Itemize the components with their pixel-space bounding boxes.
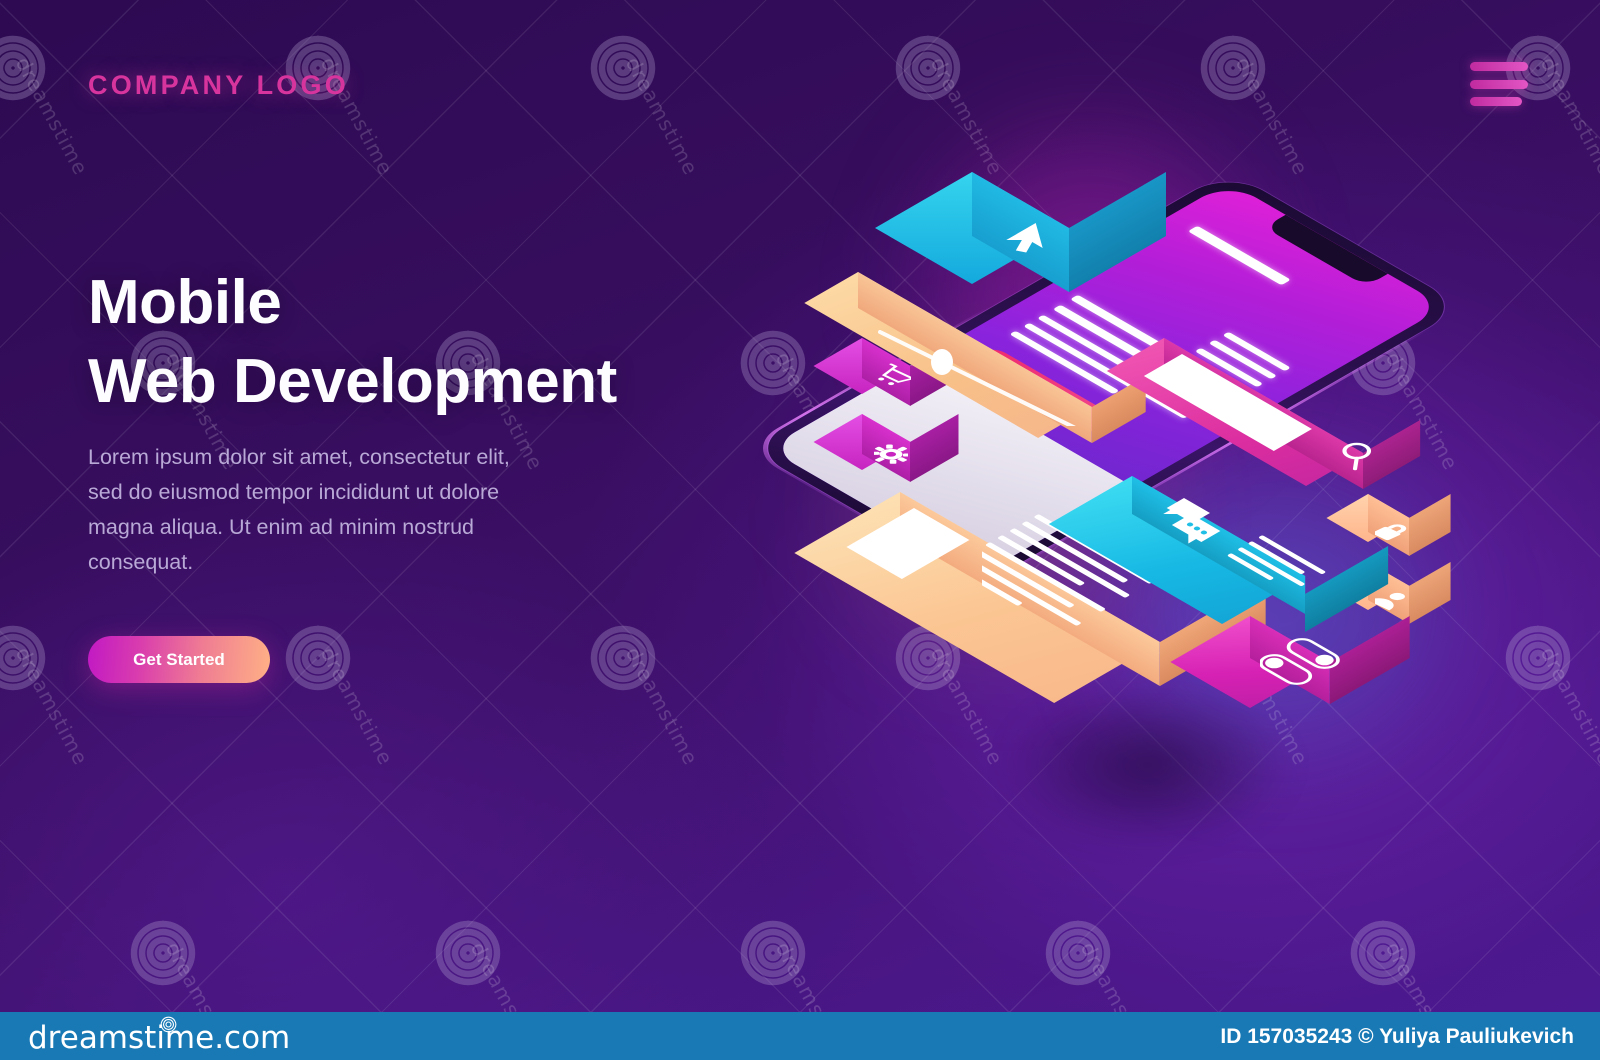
page-title: Mobile Web Development [88, 264, 617, 421]
search-icon [1332, 434, 1378, 486]
lock-icon [1374, 514, 1408, 554]
gear-icon [873, 436, 909, 472]
headline-line-1: Mobile [88, 268, 281, 337]
chat-icon [1146, 494, 1226, 574]
cursor-icon [1000, 212, 1068, 280]
get-started-button[interactable]: Get Started [88, 636, 270, 683]
headline-line-2: Web Development [88, 343, 617, 422]
company-logo[interactable]: COMPANY LOGO [88, 70, 349, 101]
slider-icon [872, 306, 1122, 426]
isometric-illustration [800, 80, 1520, 880]
spiral-icon [160, 1016, 177, 1036]
hamburger-bar-1 [1470, 62, 1528, 71]
stock-footer-bar: dreamstime.com ID 157035243 © Yuliya Pau… [0, 1012, 1600, 1060]
image-credit: ID 157035243 © Yuliya Pauliukevich [1220, 1025, 1574, 1049]
toggle-icon[interactable] [1260, 632, 1350, 732]
screen-title-line [1188, 226, 1291, 286]
hero-banner: dreamstimedreamstimedreamstimedreamstime… [0, 0, 1600, 1060]
hero-description: Lorem ipsum dolor sit amet, consectetur … [88, 440, 518, 580]
